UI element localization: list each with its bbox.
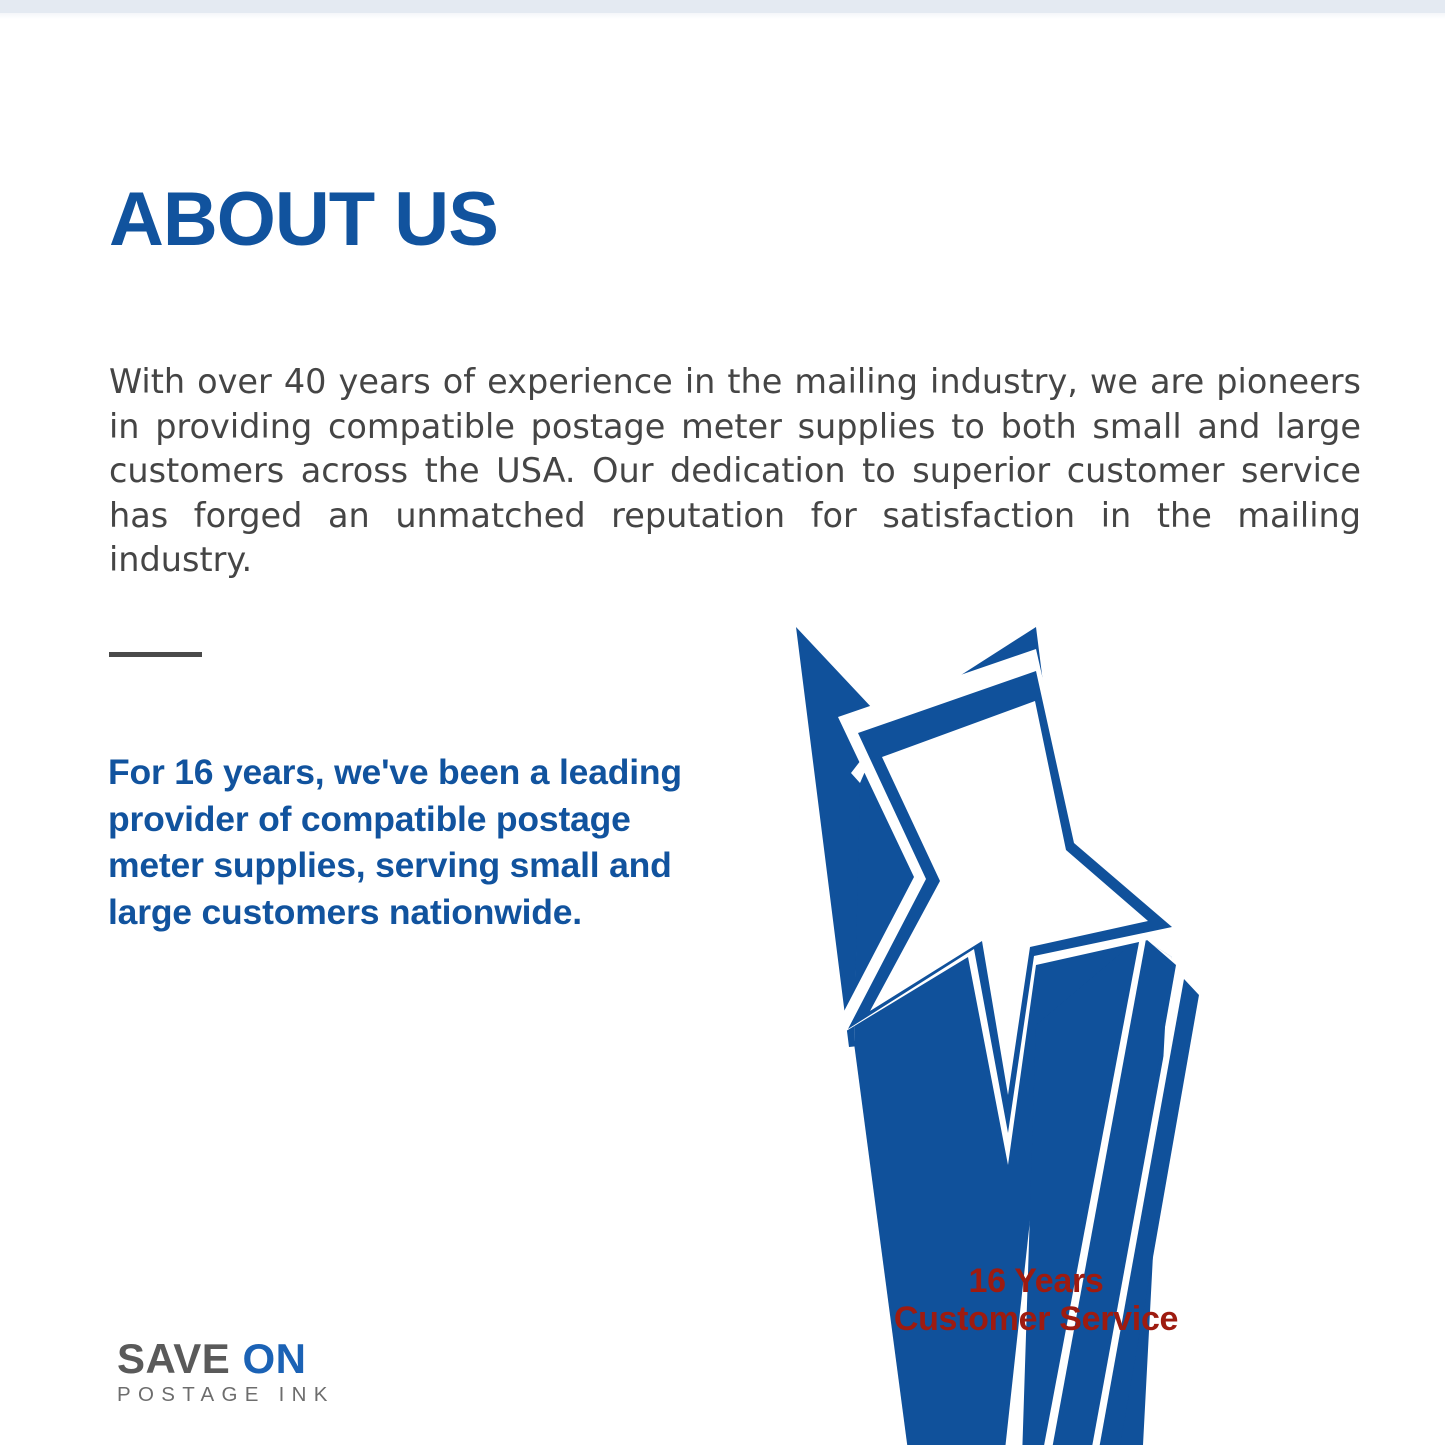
- plaque-line-customer-service: Customer Service: [736, 1300, 1336, 1338]
- intro-paragraph: With over 40 years of experience in the …: [109, 360, 1361, 583]
- logo-wordmark: SAVE ON: [117, 1337, 347, 1381]
- logo-word-save: SAVE: [117, 1335, 230, 1382]
- page-title: ABOUT US: [109, 179, 498, 261]
- logo-tagline: POSTAGE INK: [117, 1383, 347, 1407]
- logo-word-on: ON: [242, 1335, 306, 1382]
- trophy-plaque-text: 16 Years Customer Service: [736, 1262, 1336, 1338]
- plaque-line-years: 16 Years: [736, 1262, 1336, 1300]
- highlight-statement: For 16 years, we've been a leading provi…: [108, 749, 688, 935]
- brand-logo: SAVE ON POSTAGE INK: [117, 1337, 347, 1407]
- about-us-slide: ABOUT US With over 40 years of experienc…: [0, 0, 1445, 1440]
- section-divider: [109, 652, 202, 657]
